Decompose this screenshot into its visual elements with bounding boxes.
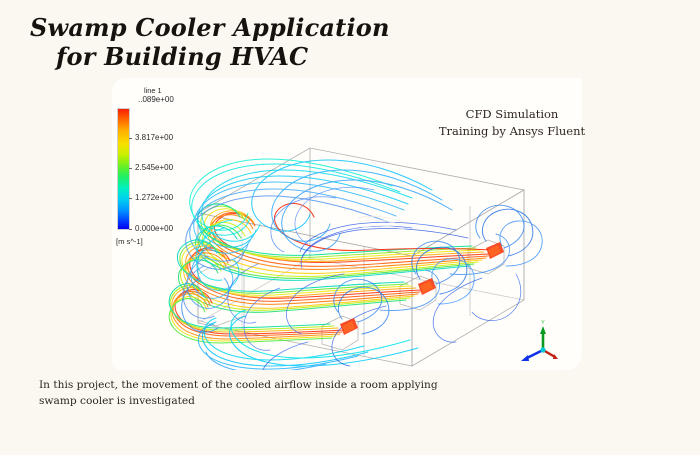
caption-line-1: In this project, the movement of the coo… [39,377,469,393]
tick-label: 2.545e+00 [135,163,173,172]
page-title-line-1: Swamp Cooler Application [30,13,450,42]
streamline-bundle-jet-1 [196,203,494,280]
caption: In this project, the movement of the coo… [39,377,469,409]
colorbar-gradient-strip [117,108,130,230]
streamline-bundle-jet-3 [169,284,344,343]
slide-canvas: Swamp Cooler Application for Building HV… [0,0,700,455]
tick-mark [129,168,132,169]
streamline-bundle-floor-sweeps [198,310,418,370]
axis-triad-y-label: Y [541,320,545,326]
caption-line-2: swamp cooler is investigated [39,393,469,409]
tick-label: 3.817e+00 [135,133,173,142]
page-title: Swamp Cooler Application for Building HV… [30,13,450,71]
colorbar-max-label: ..089e+00 [138,95,174,104]
tick-label: 1.272e+00 [135,193,173,202]
tick-mark [129,198,132,199]
streamline-bundle-right-wall-loops [334,205,542,334]
page-title-line-2: for Building HVAC [30,42,450,71]
streamline-bundle-recirculation-upper [186,159,452,269]
cfd-annotation-line-2: Training by Ansys Fluent [432,123,592,140]
tick-mark [129,229,132,230]
colorbar-title: line 1 [144,86,162,95]
cfd-annotation-line-1: CFD Simulation [432,106,592,123]
tick-mark [129,138,132,139]
cfd-annotation: CFD Simulation Training by Ansys Fluent [432,106,592,140]
velocity-colorbar-legend: line 1 ..089e+00 3.817e+00 2.545e+00 1.2… [116,86,202,262]
tick-label: 0.000e+00 [135,224,173,233]
colorbar-units-label: [m s^-1] [116,237,143,246]
axis-triad-icon: Y [515,318,569,368]
